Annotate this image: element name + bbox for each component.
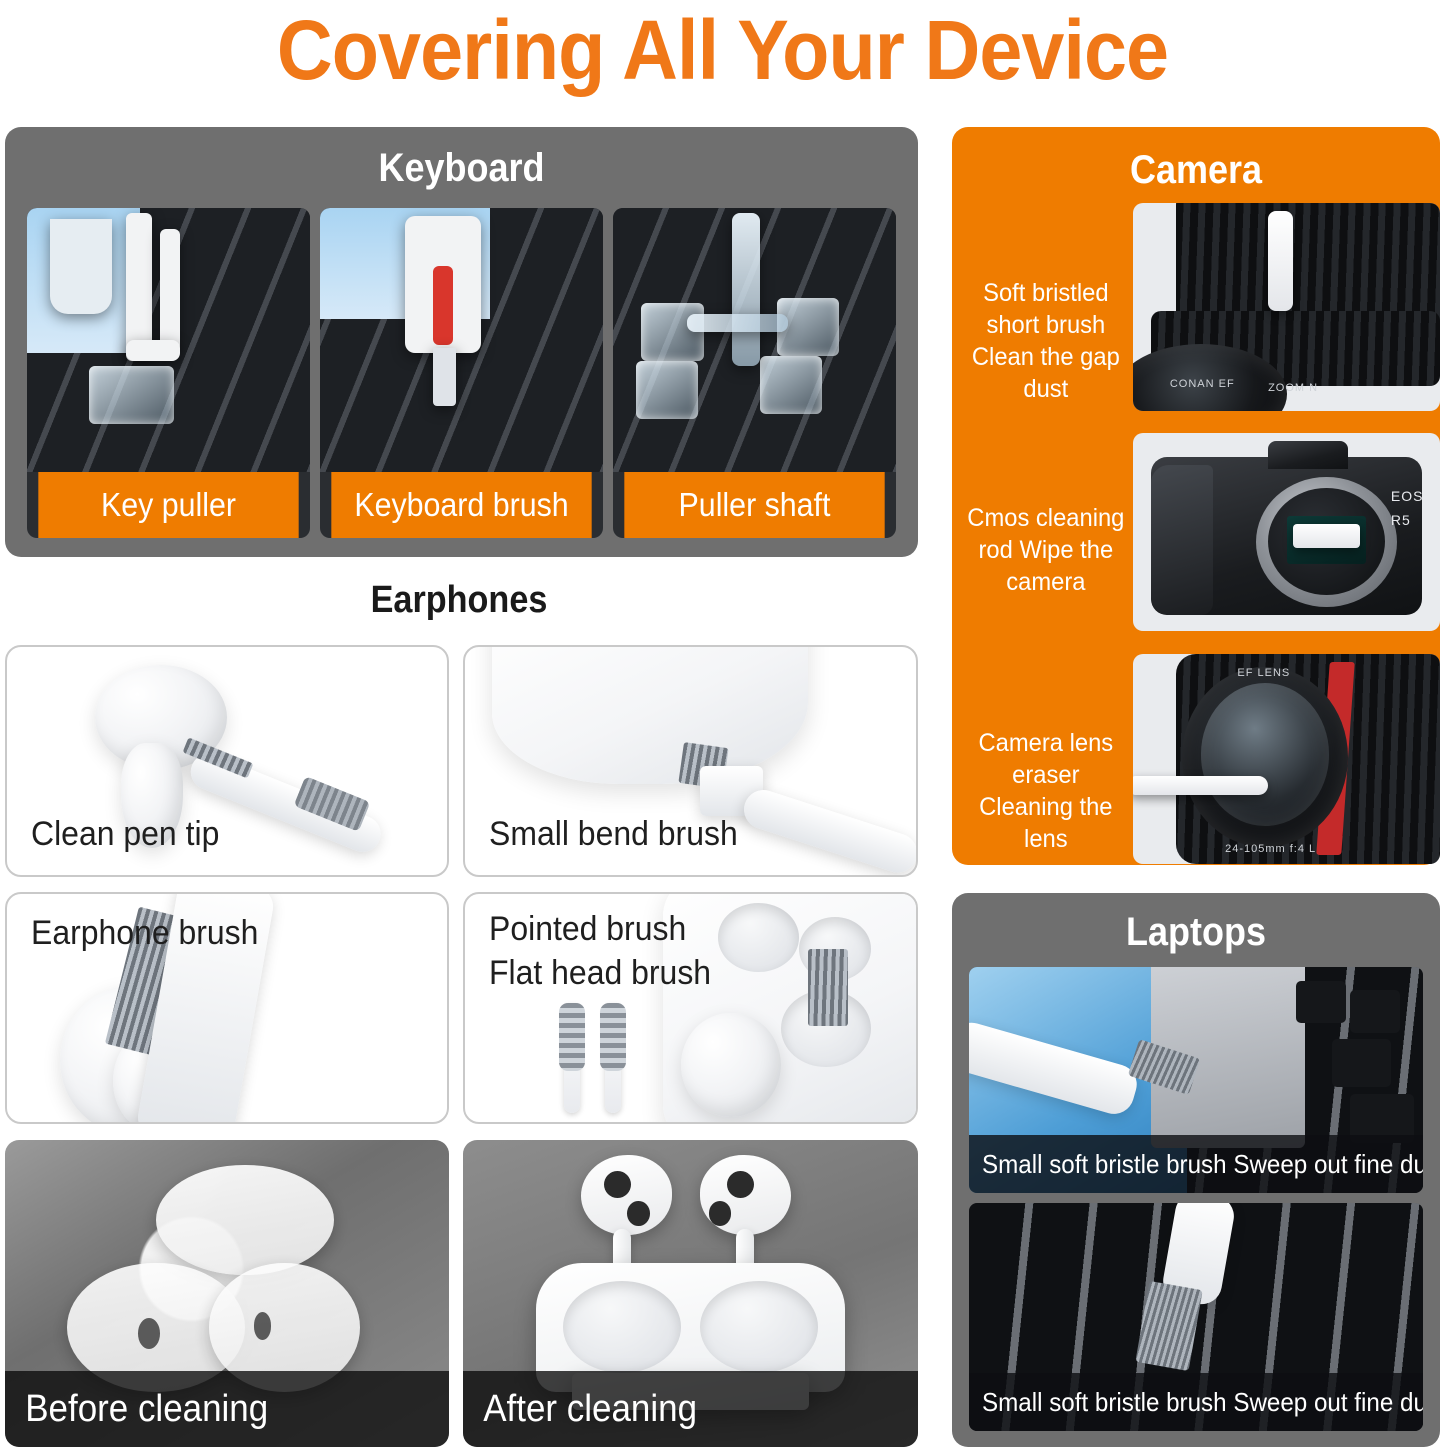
before-cleaning-caption-bar: Before cleaning: [5, 1371, 449, 1447]
puller-shaft-label: Puller shaft: [624, 472, 884, 538]
infographic-page: Covering All Your Device Keyboard Key pu…: [0, 0, 1445, 1453]
flat-head-brush-label: Flat head brush: [489, 952, 711, 994]
laptop-card-1-caption: Small soft bristle brush Sweep out fine …: [969, 1149, 1423, 1180]
keyboard-card-key-puller[interactable]: Key puller: [27, 208, 310, 538]
flat-head-brush-icon: [605, 1003, 621, 1112]
laptop-card-keyboard-cleaning[interactable]: Small soft bristle brush Sweep out fine …: [969, 1203, 1423, 1431]
key-puller-photo: [27, 208, 310, 472]
after-cleaning-caption-bar: After cleaning: [463, 1371, 918, 1447]
camera-item-2-text: Cmos cleaning rod Wipe the camera: [957, 502, 1130, 598]
camera-item-3-text: Camera lens eraser Cleaning the lens: [957, 727, 1130, 855]
earphone-card-pointed-flat-brush[interactable]: Pointed brush Flat head brush: [463, 892, 918, 1124]
laptops-section: Laptops Small soft bristle brush Sweep o…: [952, 893, 1440, 1447]
laptop-card-port-cleaning[interactable]: Small soft bristle brush Sweep out fine …: [969, 967, 1423, 1193]
pointed-brush-icon: [564, 1003, 580, 1112]
before-cleaning-label: Before cleaning: [5, 1388, 268, 1431]
key-puller-label: Key puller: [38, 472, 298, 538]
earphone-card-small-bend-brush[interactable]: Small bend brush: [463, 645, 918, 877]
camera-item-3: Camera lens eraser Cleaning the lens: [952, 727, 1440, 855]
after-cleaning-label: After cleaning: [463, 1388, 697, 1431]
keyboard-card-list: Key puller Keyboard brush: [27, 208, 896, 538]
laptop-card-2-caption-bar: Small soft bristle brush Sweep out fine …: [969, 1373, 1423, 1431]
camera-section: Camera CONAN EF ZOOM N Soft bristled sho…: [952, 127, 1440, 865]
keyboard-section-title: Keyboard: [51, 127, 873, 191]
keyboard-brush-photo: [320, 208, 603, 472]
laptop-card-1-caption-bar: Small soft bristle brush Sweep out fine …: [969, 1135, 1423, 1193]
earphone-brush-label: Earphone brush: [31, 912, 258, 954]
keyboard-section: Keyboard Key puller: [5, 127, 918, 557]
clean-pen-tip-label: Clean pen tip: [31, 813, 219, 855]
earphone-card-earphone-brush[interactable]: Earphone brush: [5, 892, 449, 1124]
comparison-card-after[interactable]: L R After cleaning: [463, 1140, 918, 1447]
camera-section-title: Camera: [976, 127, 1415, 193]
small-bend-brush-label: Small bend brush: [489, 813, 738, 855]
laptop-card-2-caption: Small soft bristle brush Sweep out fine …: [969, 1387, 1423, 1418]
camera-item-1: Soft bristled short brush Clean the gap …: [952, 277, 1440, 405]
keyboard-card-keyboard-brush[interactable]: Keyboard brush: [320, 208, 603, 538]
camera-item-1-text: Soft bristled short brush Clean the gap …: [957, 277, 1130, 405]
comparison-card-before[interactable]: Before cleaning: [5, 1140, 449, 1447]
laptops-section-title: Laptops: [976, 893, 1415, 955]
camera-item-2: Cmos cleaning rod Wipe the camera: [952, 502, 1440, 598]
keyboard-brush-label: Keyboard brush: [331, 472, 591, 538]
page-title: Covering All Your Device: [58, 4, 1387, 96]
keyboard-card-puller-shaft[interactable]: Puller shaft: [613, 208, 896, 538]
puller-shaft-photo: [613, 208, 896, 472]
lens-label-etch: EF LENS: [1237, 667, 1290, 679]
pointed-brush-label: Pointed brush: [489, 908, 686, 950]
earphone-card-clean-pen-tip[interactable]: Clean pen tip: [5, 645, 449, 877]
earphones-section-title: Earphones: [46, 578, 872, 622]
